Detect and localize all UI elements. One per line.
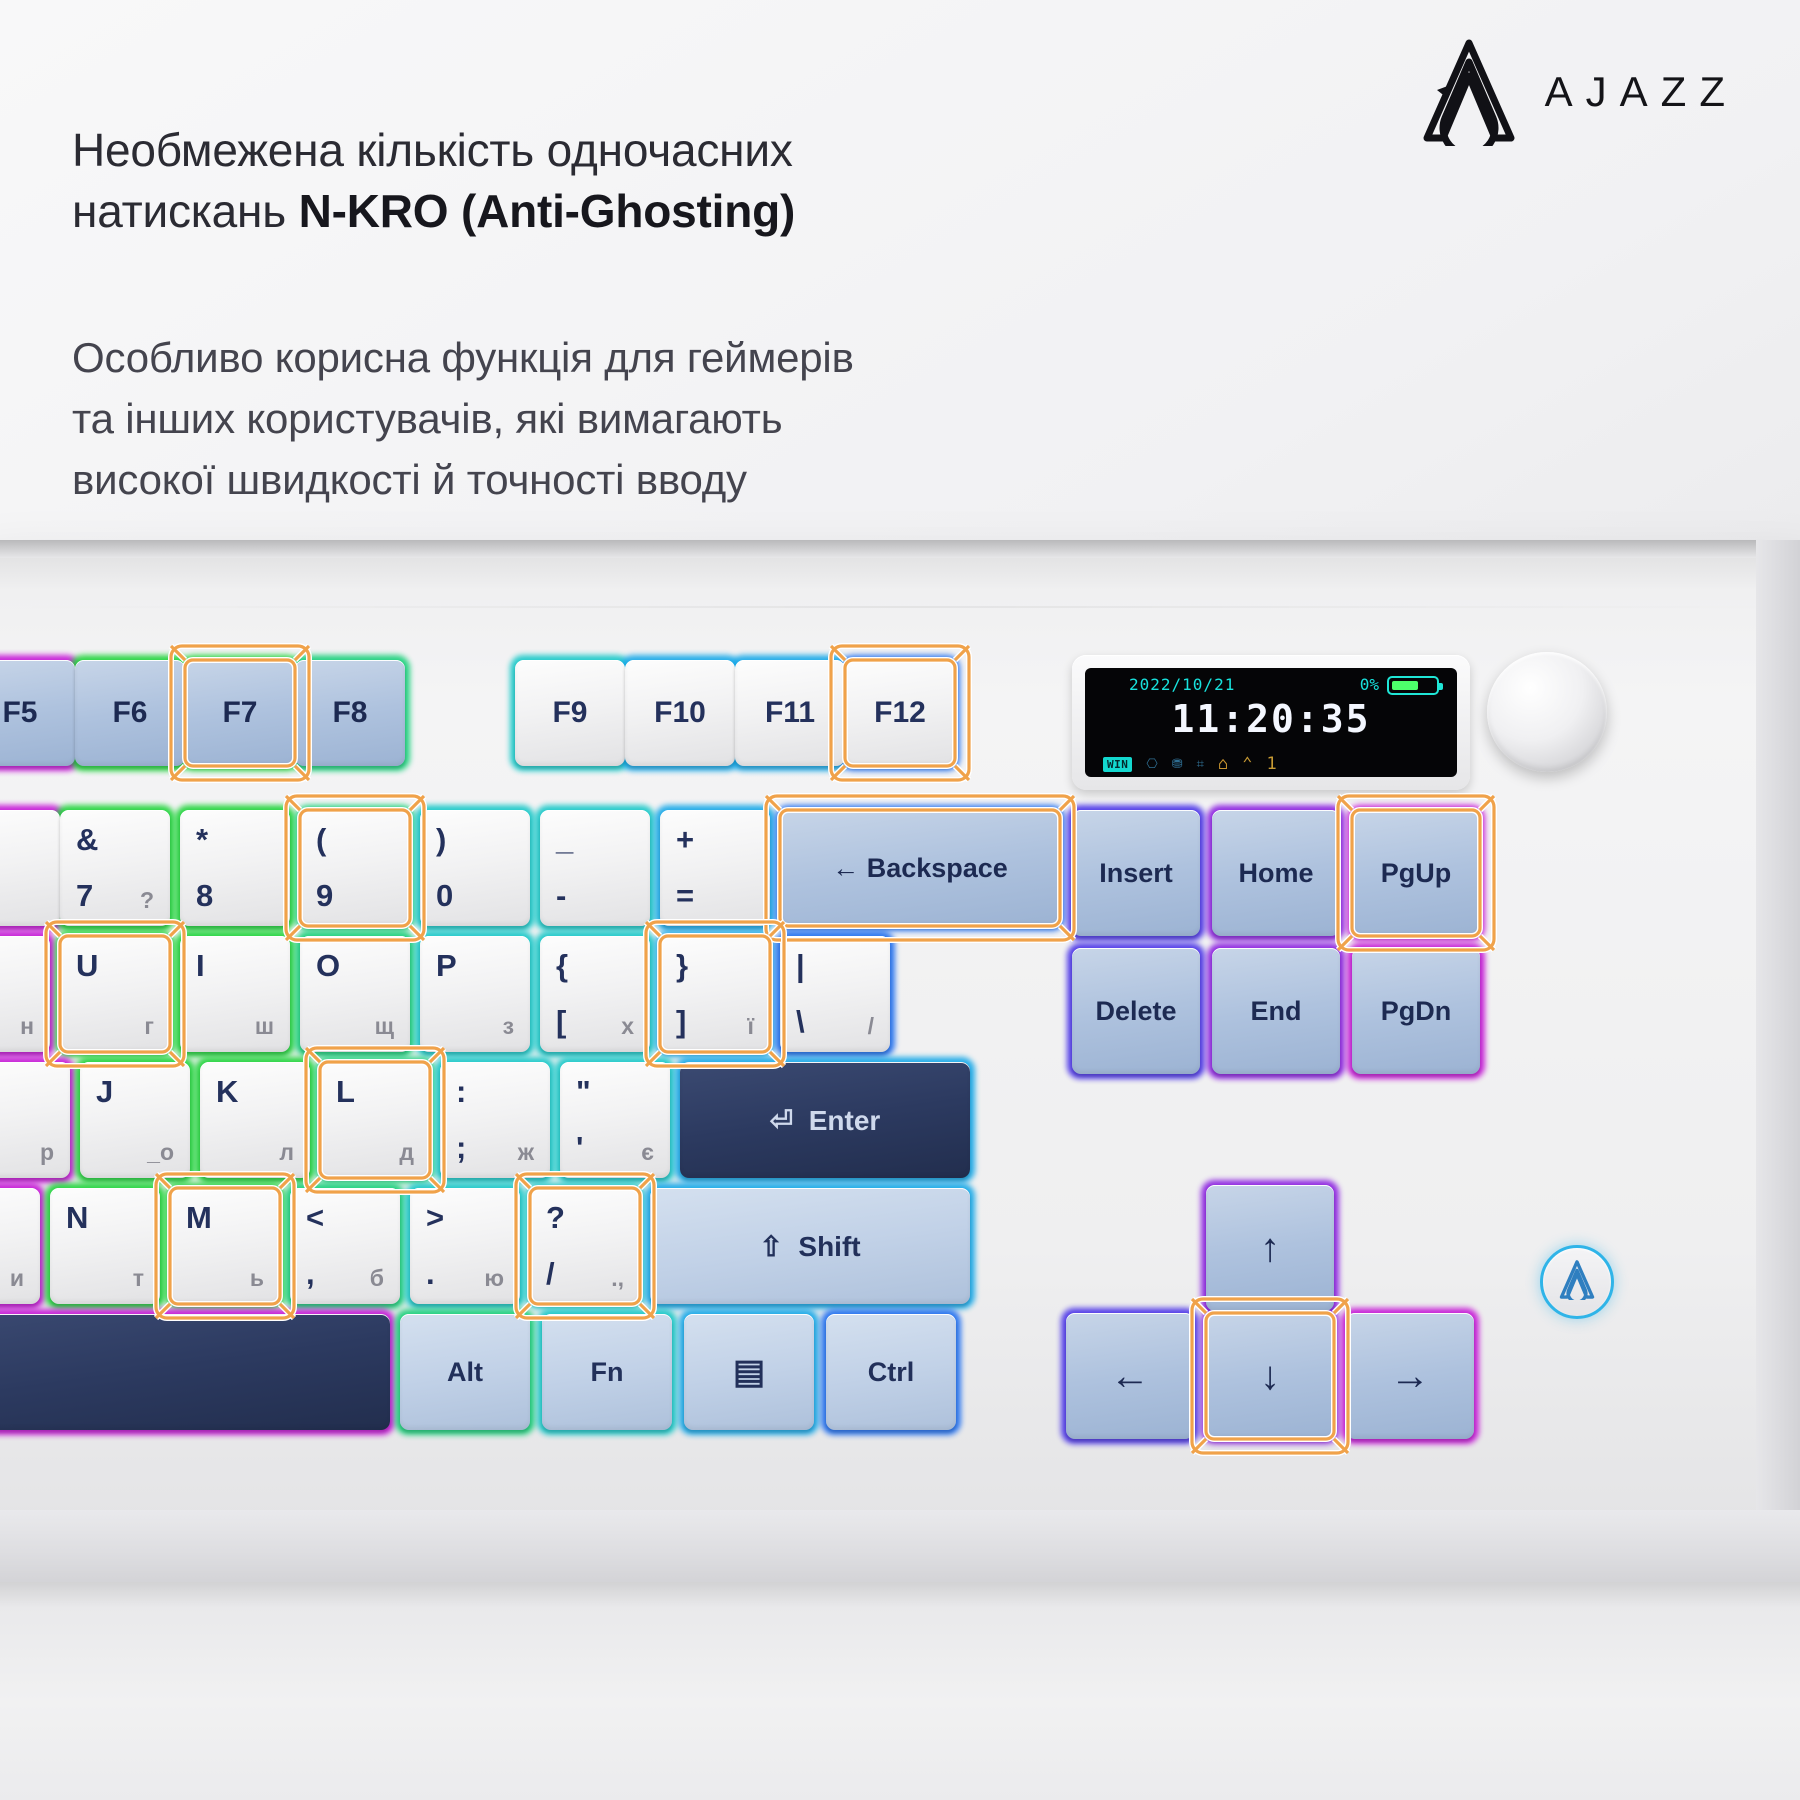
subtitle: Особливо корисна функція для геймерів та… [72,328,1132,511]
headline-line-2-bold: N-KRO (Anti-Ghosting) [299,185,796,237]
key-legend-bottom: 7 [76,878,93,914]
key-pgup[interactable]: PgUp [1352,810,1480,936]
key-label: Alt [400,1357,530,1388]
key-label: Insert [1072,858,1200,889]
key-shift-right[interactable]: ⇧ Shift [650,1188,970,1304]
key-legend-sub: ' [576,1130,583,1166]
page-title: Необмежена кількість одночасних натискан… [72,120,1112,241]
arrow-right-key[interactable]: → [1346,1313,1474,1439]
key-0[interactable]: ) 0 [420,810,530,926]
key-legend-alt: ? [140,887,154,914]
key-legend-bottom: = [676,878,694,914]
key-legend-alt: ., [611,1265,624,1292]
key-legend-bottom: 0 [436,878,453,914]
key-f12[interactable]: F12 [845,660,955,766]
key-legend-main: K [216,1074,238,1110]
key-legend-alt: щ [375,1013,394,1040]
key-{[interactable]: {[ х [540,936,650,1052]
key-legend-top: * [196,822,208,858]
key-f10[interactable]: F10 [625,660,735,766]
arrow-left-icon: ← [1066,1354,1194,1399]
key-label: Ctrl [826,1357,956,1388]
key-k[interactable]: K л [200,1062,310,1178]
key-legend-sub: / [546,1256,555,1292]
key-l[interactable]: L д [320,1062,430,1178]
key-legend-main: O [316,948,340,984]
key-legend-main: > [426,1200,444,1236]
key-legend-main: : [456,1074,466,1110]
ajazz-triangle-logo-icon [1423,38,1515,146]
key-legend-main: { [556,948,568,984]
key-legend-main: L [336,1074,355,1110]
key-label: F6 [75,696,185,730]
key-legend-alt: ї [748,1013,754,1040]
key-legend-main: P [436,948,457,984]
key-label: Fn [542,1357,672,1388]
arrow-down-key[interactable]: ↓ [1206,1313,1334,1439]
arrow-right-icon: → [1346,1354,1474,1399]
key-label: F12 [845,696,955,730]
key-legend-bottom: 9 [316,878,333,914]
key-legend-main: I [196,948,205,984]
key-legend-alt: д [399,1139,414,1166]
key-f5[interactable]: F5 [0,660,75,766]
key-p[interactable]: P з [420,936,530,1052]
key-legend-alt: ш [255,1013,274,1040]
key-sym[interactable]: :; ж [440,1062,550,1178]
key-legend-top: ) [436,822,446,858]
key-f7[interactable]: F7 [185,660,295,766]
menu-icon: ▤ [684,1352,814,1392]
key-label: PgDn [1352,996,1480,1027]
key-legend-sub: ] [676,1004,686,1040]
key-legend-alt: л [279,1139,294,1166]
key-backslash[interactable]: |\ / [780,936,890,1052]
key-label: F9 [515,696,625,730]
key--[interactable]: _ - [540,810,650,926]
arrow-up-icon: ↑ [1206,1226,1334,1271]
key-f9[interactable]: F9 [515,660,625,766]
key-b[interactable]: B и [0,1188,40,1304]
key-label: ← Backspace [780,853,1060,884]
key-label: End [1212,996,1340,1027]
key-legend-alt: / [868,1013,874,1040]
key-legend-alt: ж [518,1139,534,1166]
key-sym[interactable]: "' є [560,1062,670,1178]
key-legend-alt: н [20,1013,34,1040]
desk-surface [0,1582,1800,1800]
key-legend-top: ( [316,822,326,858]
key-label: F10 [625,696,735,730]
key-legend-alt: и [10,1265,24,1292]
key-i[interactable]: I ш [180,936,290,1052]
key-ctrl[interactable]: Ctrl [826,1314,956,1430]
arrow-left-key[interactable]: ← [1066,1313,1194,1439]
promo-image: AJAZZ Необмежена кількість одночасних на… [0,0,1800,1800]
key-insert[interactable]: Insert [1072,810,1200,936]
key-6[interactable]: ^ 6 [0,810,60,926]
key-legend-alt: _о [147,1139,174,1166]
key-label: F5 [0,696,75,730]
headline-line-1: Необмежена кількість одночасних [72,124,793,176]
key-legend-sub: . [426,1256,435,1292]
key-home[interactable]: Home [1212,810,1340,936]
key-legend-bottom: - [556,878,566,914]
key-legend-alt: ь [250,1265,264,1292]
key-7[interactable]: & 7 ? [60,810,170,926]
key-9[interactable]: ( 9 [300,810,410,926]
subcopy-line-1: Особливо корисна функція для геймерів [72,334,854,381]
key-legend-alt: є [641,1139,654,1166]
key-alt[interactable]: Alt [400,1314,530,1430]
header-panel: AJAZZ Необмежена кількість одночасних на… [0,0,1800,620]
key-legend-top: _ [556,822,573,858]
key-label: ⇧ Shift [650,1230,970,1263]
key-legend-alt: г [144,1013,154,1040]
arrow-down-icon: ↓ [1206,1354,1334,1399]
key-legend-main: } [676,948,688,984]
key-label: Home [1212,858,1340,889]
arrow-up-key[interactable]: ↑ [1206,1185,1334,1311]
key-legend-main: J [96,1074,113,1110]
key-fn[interactable]: Fn [542,1314,672,1430]
subcopy-line-2: та інших користувачів, які вимагають [72,395,782,442]
key-legend-alt: ю [484,1265,504,1292]
headline-line-2-prefix: натискань [72,185,299,237]
key-m[interactable]: M ь [170,1188,280,1304]
key-label: ⏎ Enter [680,1104,970,1137]
key-legend-main: | [796,948,805,984]
key-u[interactable]: U г [60,936,170,1052]
key-h[interactable]: H р [0,1062,70,1178]
key-legend-alt: х [621,1013,634,1040]
key-legend-alt: т [133,1265,144,1292]
key-sym[interactable]: ?/ ., [530,1188,640,1304]
key-spacebar[interactable] [0,1314,390,1430]
key-delete[interactable]: Delete [1072,948,1200,1074]
subcopy-line-3: високої швидкості й точності вводу [72,456,747,503]
key-}[interactable]: }] ї [660,936,770,1052]
key-j[interactable]: J _о [80,1062,190,1178]
key-legend-top: & [76,822,98,858]
key-plate: F5F6F7 F8F9F10F11F12 [0,645,1800,1505]
key-enter[interactable]: ⏎ Enter [680,1062,970,1178]
key-legend-sub: , [306,1256,315,1292]
key-legend-main: M [186,1200,212,1236]
key-=[interactable]: + = [660,810,770,926]
key-8[interactable]: * 8 [180,810,290,926]
key-pgdn[interactable]: PgDn [1352,948,1480,1074]
key-sym[interactable]: <, б [290,1188,400,1304]
key-y[interactable]: Y н [0,936,50,1052]
key-menu[interactable]: ▤ [684,1314,814,1430]
key-legend-sub: ; [456,1130,466,1166]
key-legend-top: + [676,822,694,858]
key-label: Delete [1072,996,1200,1027]
key-f6[interactable]: F6 [75,660,185,766]
key-legend-alt: з [503,1013,514,1040]
key-o[interactable]: O щ [300,936,410,1052]
key-legend-main: " [576,1074,591,1110]
key-label: F8 [295,696,405,730]
key-legend-sub: [ [556,1004,566,1040]
key-legend-main: < [306,1200,324,1236]
key-legend-alt: р [40,1139,54,1166]
key-legend-main: N [66,1200,88,1236]
key-sym[interactable]: >. ю [410,1188,520,1304]
key-f11[interactable]: F11 [735,660,845,766]
key-label: PgUp [1352,858,1480,889]
brand-lockup: AJAZZ [1423,38,1738,146]
key-n[interactable]: N т [50,1188,160,1304]
key-legend-sub: \ [796,1004,805,1040]
key-end[interactable]: End [1212,948,1340,1074]
key-label: F7 [185,696,295,730]
key-legend-alt: б [370,1265,384,1292]
key-legend-bottom: 8 [196,878,213,914]
key-f8[interactable]: F8 [295,660,405,766]
key-backspace[interactable]: ← Backspace [780,810,1060,926]
brand-wordmark: AJAZZ [1541,68,1738,116]
key-label: F11 [735,696,845,730]
key-legend-main: ? [546,1200,565,1236]
key-legend-main: U [76,948,98,984]
